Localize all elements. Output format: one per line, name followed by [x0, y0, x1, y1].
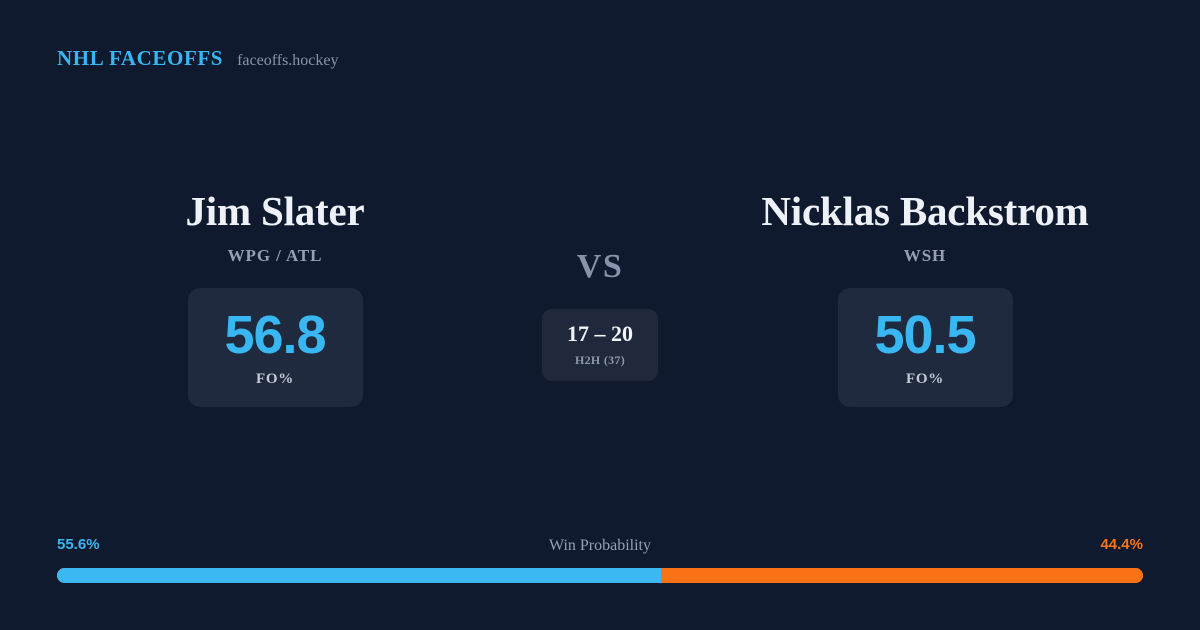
player-right-stat-label: FO% — [906, 371, 944, 388]
head-to-head-card: 17 – 20 H2H (37) — [542, 309, 658, 381]
player-right: Nicklas Backstrom WSH 50.5 FO% — [690, 190, 1160, 407]
matchup-section: Jim Slater WPG / ATL 56.8 FO% VS 17 – 20… — [0, 190, 1200, 430]
win-probability-section: 55.6% Win Probability 44.4% — [57, 536, 1143, 583]
win-probability-labels: 55.6% Win Probability 44.4% — [57, 536, 1143, 558]
player-left-stat-label: FO% — [256, 371, 294, 388]
win-probability-bar — [57, 568, 1143, 583]
versus-block: VS 17 – 20 H2H (37) — [510, 190, 690, 381]
player-right-stat-value: 50.5 — [874, 308, 975, 362]
win-probability-right-pct: 44.4% — [1100, 536, 1143, 553]
player-left-stat-value: 56.8 — [224, 308, 325, 362]
player-left-name: Jim Slater — [185, 190, 364, 233]
win-probability-bar-left-fill — [57, 568, 661, 583]
player-left-team: WPG / ATL — [228, 246, 323, 266]
header: NHL FACEOFFS faceoffs.hockey — [57, 46, 339, 71]
player-right-name: Nicklas Backstrom — [761, 190, 1088, 233]
head-to-head-score: 17 – 20 — [567, 323, 633, 345]
player-left: Jim Slater WPG / ATL 56.8 FO% — [40, 190, 510, 407]
win-probability-title: Win Probability — [57, 537, 1143, 555]
versus-label: VS — [577, 250, 623, 284]
win-probability-bar-right-fill — [661, 568, 1143, 583]
brand-title: NHL FACEOFFS — [57, 46, 223, 71]
site-url-label: faceoffs.hockey — [237, 52, 338, 70]
player-right-team: WSH — [904, 246, 946, 266]
player-left-stat-card: 56.8 FO% — [188, 288, 363, 407]
player-right-stat-card: 50.5 FO% — [838, 288, 1013, 407]
share-card: NHL FACEOFFS faceoffs.hockey Jim Slater … — [0, 0, 1200, 630]
head-to-head-label: H2H (37) — [575, 353, 625, 368]
